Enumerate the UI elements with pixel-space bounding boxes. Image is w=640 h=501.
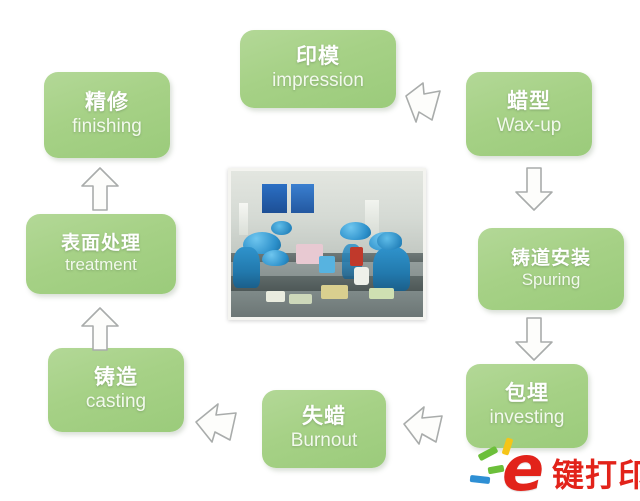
node-treatment[interactable]: 表面处理 treatment (26, 214, 176, 294)
node-finishing-en: finishing (72, 116, 142, 139)
node-casting-en: casting (86, 391, 146, 414)
node-impression[interactable]: 印模 impression (240, 30, 396, 108)
photo-cap-2 (377, 232, 402, 250)
photo-item-5 (321, 285, 348, 300)
photo-poster-right (291, 184, 314, 213)
watermark-text: 键打印 (552, 450, 640, 496)
photo-worker-1 (233, 247, 260, 288)
node-spuring-cn: 铸道安装 (511, 248, 591, 269)
node-impression-en: impression (272, 70, 364, 93)
photo-item-2 (319, 256, 334, 274)
node-treatment-cn: 表面处理 (61, 233, 141, 254)
photo-item-6 (266, 291, 285, 303)
node-waxup[interactable]: 蜡型 Wax-up (466, 72, 592, 156)
photo-item-7 (289, 294, 312, 304)
node-burnout-en: Burnout (291, 430, 358, 453)
photo-item-8 (369, 288, 394, 300)
node-spuring-en: Spuring (522, 270, 581, 290)
arrow-down-icon (512, 164, 556, 214)
arrow-down-right-icon (402, 80, 446, 126)
workflow-diagram: 印模 impression 蜡型 Wax-up 铸道安装 Spuring 包埋 … (0, 0, 640, 501)
arrow-up-icon (78, 304, 122, 354)
node-casting[interactable]: 铸造 casting (48, 348, 184, 432)
node-treatment-en: treatment (65, 255, 137, 275)
center-photo (228, 168, 426, 320)
node-impression-cn: 印模 (296, 45, 340, 69)
node-finishing-cn: 精修 (85, 91, 129, 115)
photo-worker-2 (373, 247, 409, 291)
node-investing-en: investing (490, 407, 565, 430)
node-casting-cn: 铸造 (94, 366, 138, 390)
node-burnout[interactable]: 失蜡 Burnout (262, 390, 386, 468)
watermark-logo: e 键打印 (466, 438, 640, 501)
ray-blue-icon (470, 475, 491, 484)
node-burnout-cn: 失蜡 (302, 405, 346, 429)
photo-lamp-2 (262, 250, 289, 266)
arrow-up-left-icon (400, 404, 448, 450)
node-waxup-cn: 蜡型 (507, 90, 551, 114)
arrow-up-icon (78, 164, 122, 214)
photo-item-3 (350, 247, 363, 266)
ray-green-icon (478, 446, 499, 462)
photo-item-4 (354, 267, 369, 285)
arrow-down-icon (512, 314, 556, 364)
watermark-e-icon: e (502, 440, 544, 498)
node-spuring[interactable]: 铸道安装 Spuring (478, 228, 624, 310)
node-investing-cn: 包埋 (505, 382, 549, 406)
arrow-up-left-icon (192, 400, 242, 448)
photo-window-left (239, 203, 249, 235)
node-waxup-en: Wax-up (497, 115, 562, 138)
photo-lamp-3 (340, 222, 371, 240)
node-finishing[interactable]: 精修 finishing (44, 72, 170, 158)
photo-poster-left (262, 184, 287, 213)
